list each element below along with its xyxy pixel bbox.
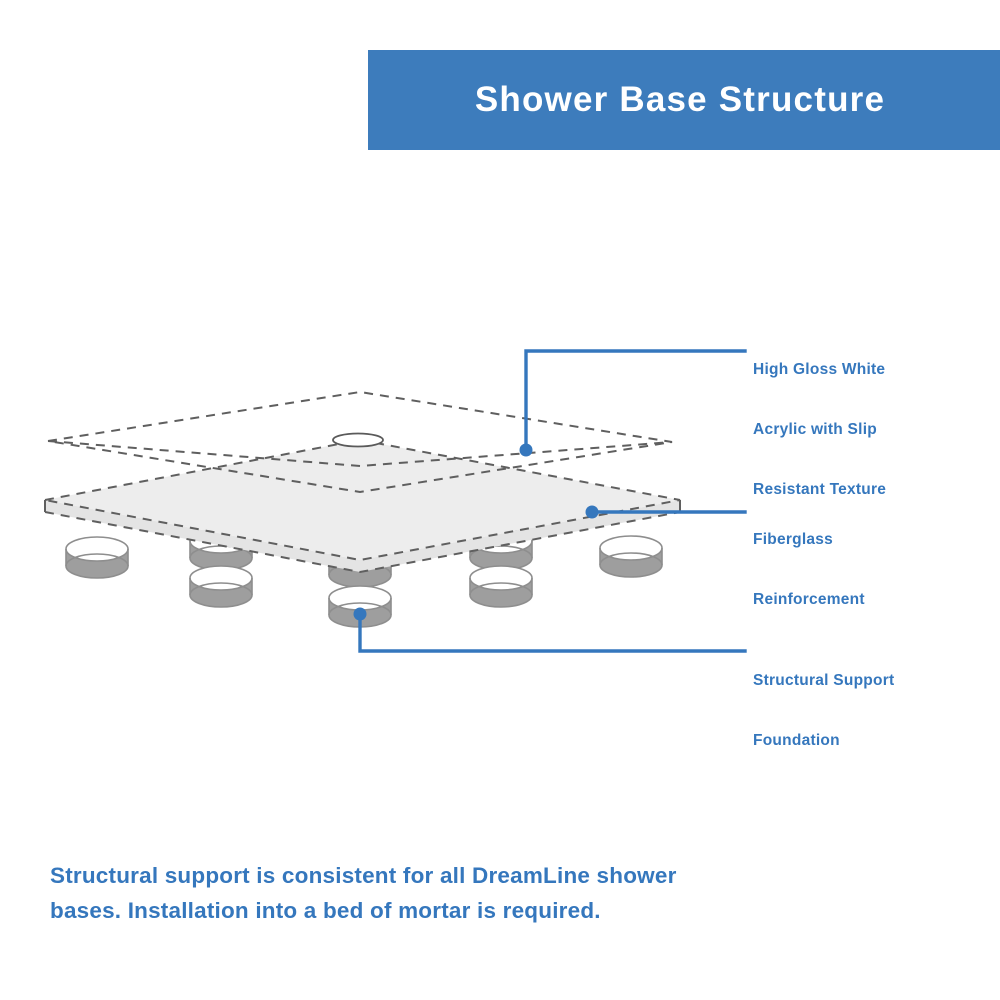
leader-line-acrylic	[520, 351, 746, 457]
callout-fiberglass-line1: Fiberglass	[753, 530, 865, 550]
callout-acrylic-line1: High Gloss White	[753, 360, 886, 380]
support-ring	[190, 566, 252, 607]
leader-line-support	[354, 608, 746, 652]
callout-support-line2: Foundation	[753, 731, 894, 751]
footer-caption: Structural support is consistent for all…	[50, 858, 690, 928]
support-ring	[470, 566, 532, 607]
callout-label-fiberglass: Fiberglass Reinforcement	[753, 490, 865, 630]
callout-acrylic-line2: Acrylic with Slip	[753, 420, 886, 440]
support-ring	[600, 536, 662, 577]
callout-label-support: Structural Support Foundation	[753, 631, 894, 771]
drain-hole-icon	[333, 434, 383, 447]
support-ring	[66, 537, 128, 578]
callout-support-line1: Structural Support	[753, 671, 894, 691]
fiberglass-slab-layer	[45, 440, 680, 572]
callout-fiberglass-line2: Reinforcement	[753, 590, 865, 610]
